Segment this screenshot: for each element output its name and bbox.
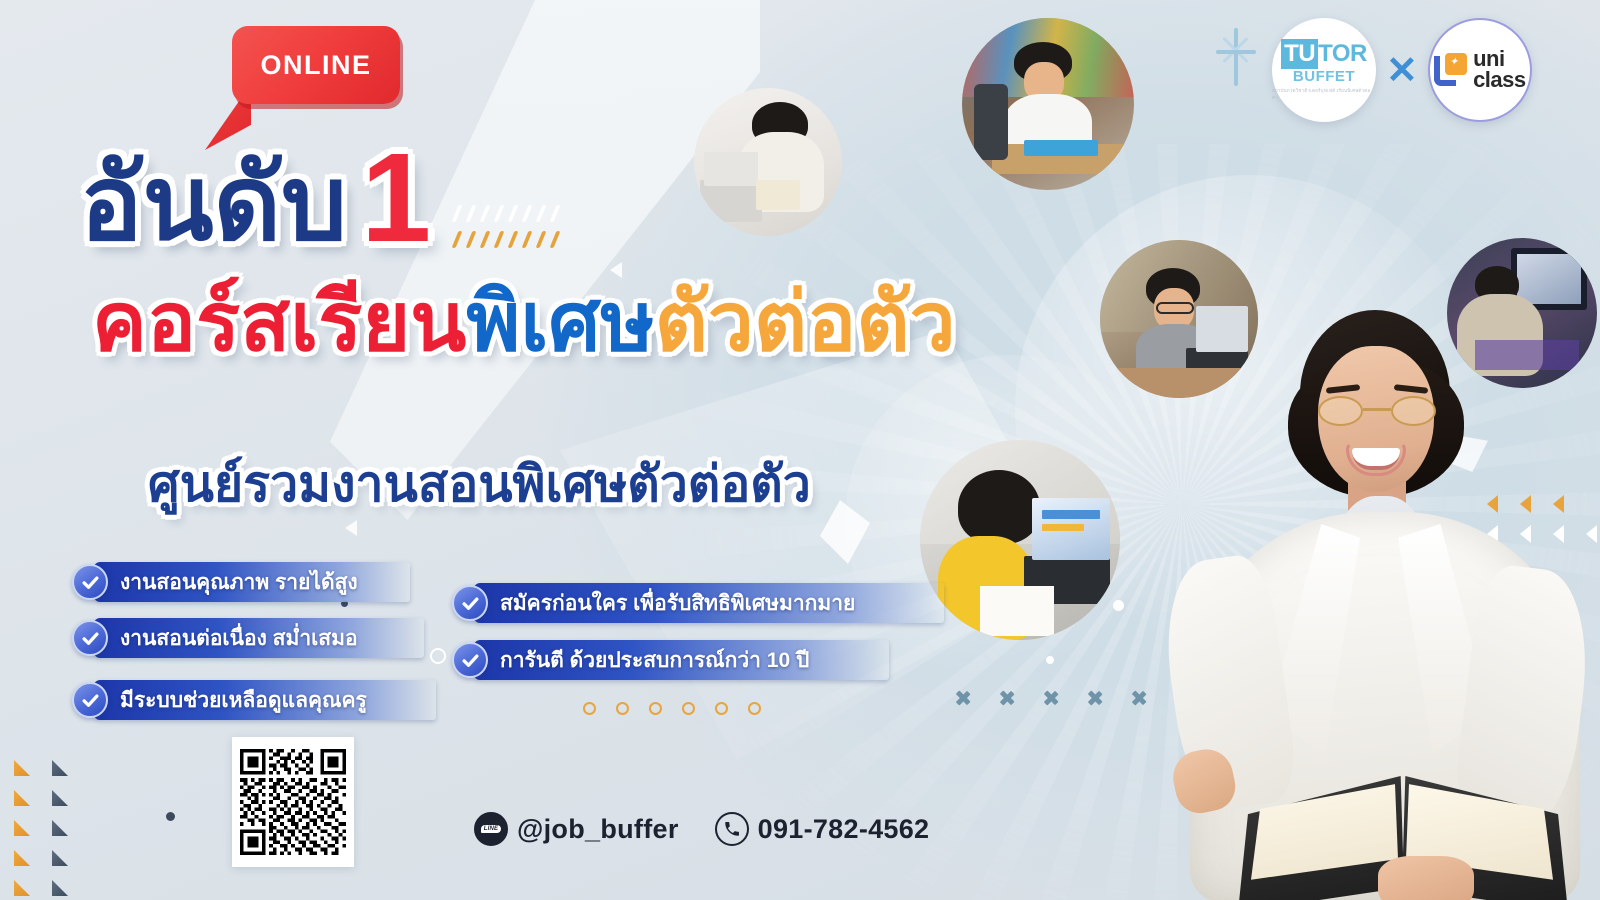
- tutor-logo-tagline: สถาบันกวดวิชาติวเตอร์บุฟเฟ่ต์ เรียนพิเศษ…: [1272, 87, 1376, 101]
- dot-decoration-3: [166, 812, 175, 821]
- triangle-outline-decoration: [610, 262, 622, 278]
- line-contact[interactable]: LINE @job_buffer: [474, 812, 679, 846]
- online-badge-label: ONLINE: [260, 50, 371, 81]
- feature-bullet-label: การันตี ด้วยประสบการณ์กว่า 10 ปี: [452, 644, 809, 677]
- dash-stripe-decoration: [455, 205, 655, 265]
- line-icon-label: LINE: [481, 825, 501, 833]
- triangle-pattern-decoration: [14, 760, 68, 900]
- tutor-logo-buffet: BUFFET: [1293, 68, 1355, 85]
- page-subtitle: ศูนย์รวมงานสอนพิเศษตัวต่อตัว: [148, 445, 811, 524]
- feature-bullet-left-2: งานสอนต่อเนื่อง สม่ำเสมอ: [72, 618, 358, 658]
- uniclass-badge-icon: ✦: [1434, 53, 1468, 87]
- phone-number-text: 091-782-4562: [758, 814, 930, 845]
- headline-line-1: อันดับ 1: [80, 140, 431, 256]
- headline-oneonone-text: ตัวต่อตัว: [655, 282, 956, 364]
- tutor-logo-tor: TOR: [1318, 40, 1367, 68]
- feature-bullet-label: งานสอนคุณภาพ รายได้สูง: [72, 566, 358, 599]
- uniclass-logo-line2: class: [1473, 70, 1526, 91]
- uniclass-logo[interactable]: ✦ uni class: [1428, 18, 1532, 122]
- photo-circle-student-desk: [694, 88, 842, 236]
- feature-bullet-label: มีระบบช่วยเหลือดูแลคุณครู: [72, 684, 367, 717]
- circle-outline-decoration: [583, 702, 761, 715]
- qr-code-icon: [240, 745, 346, 859]
- feature-bullet-label: สมัครก่อนใคร เพื่อรับสิทธิพิเศษมากมาย: [452, 587, 855, 620]
- headline-rank-number: 1: [361, 140, 431, 256]
- headline-line-2: คอร์สเรียน พิเศษ ตัวต่อตัว: [92, 282, 956, 364]
- online-badge: ONLINE: [232, 26, 400, 104]
- phone-contact[interactable]: 091-782-4562: [715, 812, 930, 846]
- photo-circle-woman-laptop: [920, 440, 1120, 640]
- ring-decoration: [430, 648, 446, 664]
- feature-bullet-left-1: งานสอนคุณภาพ รายได้สูง: [72, 562, 358, 602]
- dot-decoration-2: [1046, 656, 1054, 664]
- line-icon: LINE: [474, 812, 508, 846]
- line-id-text: @job_buffer: [517, 814, 679, 845]
- x-pattern-decoration: [955, 690, 1147, 706]
- glasses-icon: [1316, 396, 1438, 426]
- photo-circle-boy-classroom: [962, 18, 1134, 190]
- headline-special-text: พิเศษ: [466, 282, 654, 364]
- contact-info: LINE @job_buffer 091-782-4562: [474, 812, 929, 846]
- banner-canvas: ONLINE อันดับ 1 คอร์สเรียน พิเศษ ตัวต่อต…: [0, 0, 1600, 900]
- qr-code-card[interactable]: [232, 737, 354, 867]
- tutor-logo-tu: TU: [1281, 39, 1318, 69]
- feature-bullet-left-3: มีระบบช่วยเหลือดูแลคุณครู: [72, 680, 367, 720]
- headline-course-text: คอร์สเรียน: [92, 282, 466, 364]
- teacher-photo: [1150, 300, 1600, 900]
- feature-bullet-right-2: การันตี ด้วยประสบการณ์กว่า 10 ปี: [452, 640, 809, 680]
- sparkle-icon: [1216, 28, 1256, 86]
- tutor-buffet-logo[interactable]: TU TOR BUFFET สถาบันกวดวิชาติวเตอร์บุฟเฟ…: [1272, 18, 1376, 122]
- headline-rank-text: อันดับ: [80, 152, 347, 256]
- partner-logos: TU TOR BUFFET สถาบันกวดวิชาติวเตอร์บุฟเฟ…: [1272, 18, 1532, 122]
- logo-separator-x-icon: ✕: [1386, 48, 1418, 93]
- phone-icon: [715, 812, 749, 846]
- feature-bullet-label: งานสอนต่อเนื่อง สม่ำเสมอ: [72, 622, 358, 655]
- feature-bullet-right-1: สมัครก่อนใคร เพื่อรับสิทธิพิเศษมากมาย: [452, 583, 855, 623]
